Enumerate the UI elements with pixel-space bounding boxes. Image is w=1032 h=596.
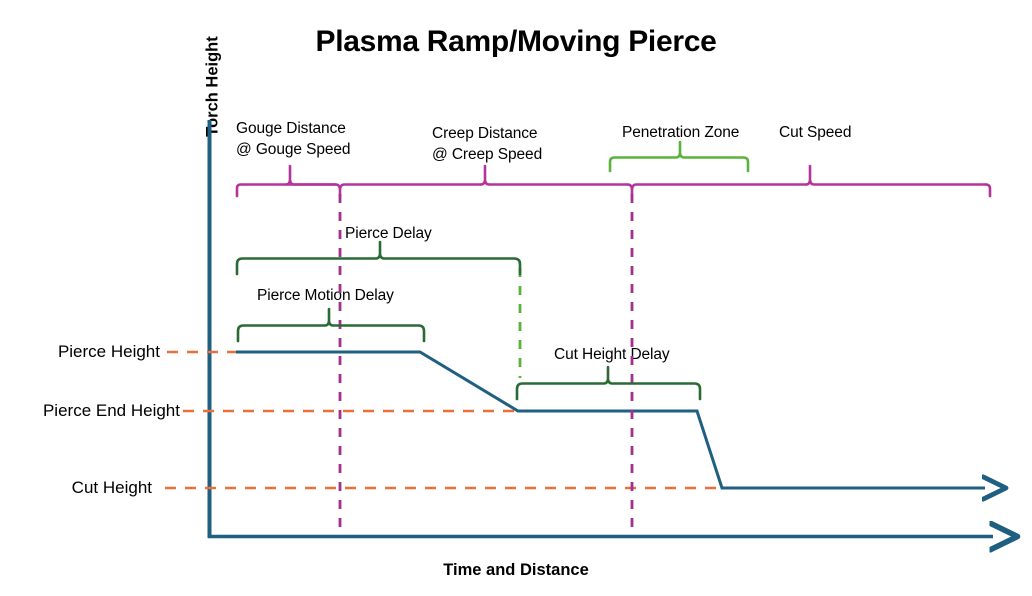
gouge-distance-tick — [286, 166, 336, 185]
cut-speed-segment-start — [632, 185, 806, 190]
creep-distance-tick — [481, 166, 628, 185]
speed-bar-right-cap — [986, 185, 990, 197]
pierce-delay-bracket — [237, 242, 520, 274]
speed-bar-left-cap — [237, 185, 336, 197]
penetration-zone-bracket — [610, 142, 748, 171]
cut-height-delay-bracket — [517, 367, 700, 399]
diagram-canvas: Plasma Ramp/Moving Pierce Torch Height T… — [0, 0, 1032, 596]
boundary-dashed-verticals — [340, 194, 632, 536]
cut-speed-tick — [806, 166, 986, 185]
torch-height-curve — [236, 352, 985, 488]
axis-group — [208, 120, 993, 538]
creep-segment-start — [340, 185, 481, 190]
speed-bracket-bar — [237, 166, 990, 196]
penetration-bracket-path — [610, 142, 748, 171]
pierce-motion-delay-bracket — [238, 309, 424, 341]
delay-brackets-group — [237, 242, 700, 399]
height-reference-lines — [165, 352, 722, 488]
plot-area — [0, 0, 1032, 596]
